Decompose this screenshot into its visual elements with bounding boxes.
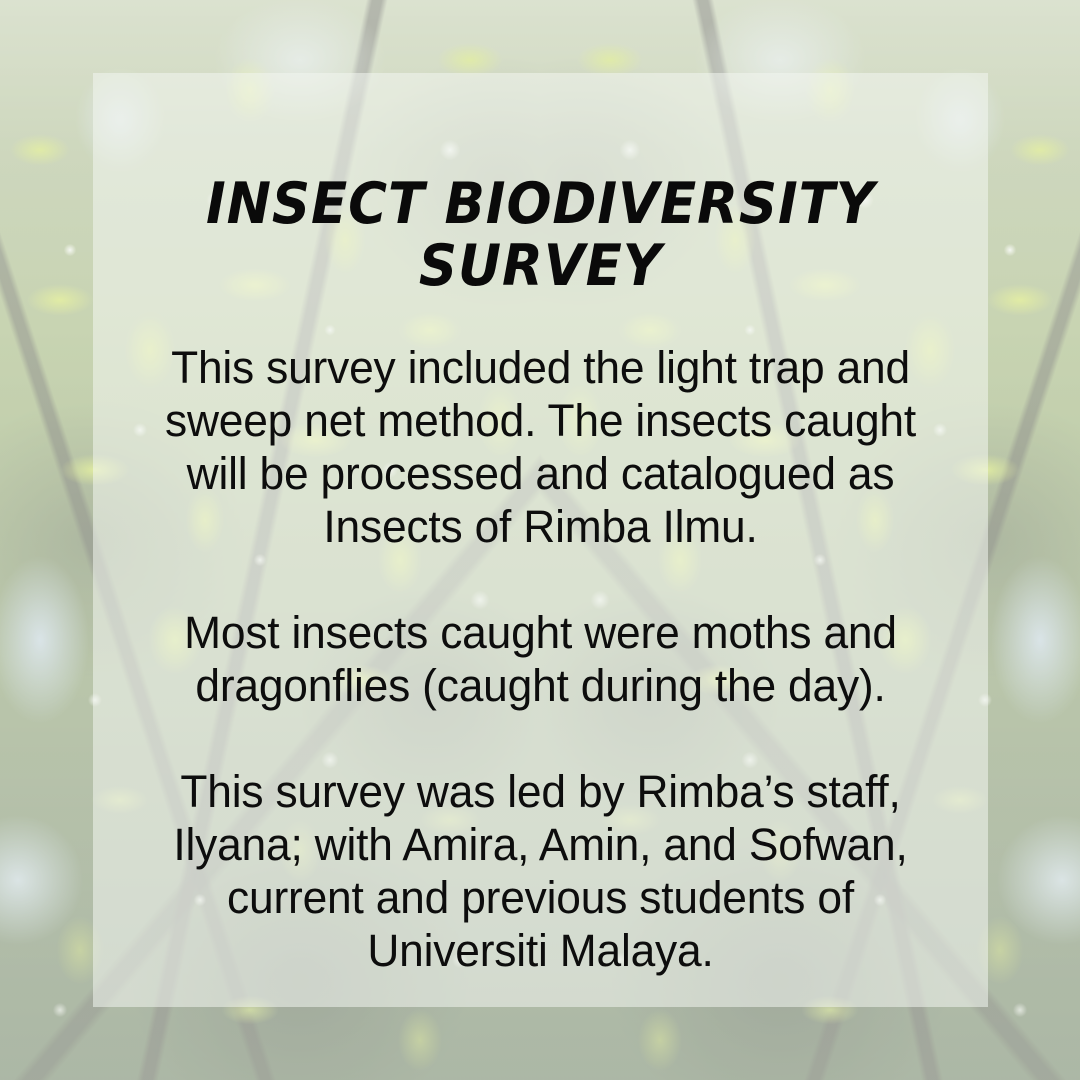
paragraph-methods: This survey included the light trap and … [100,341,982,553]
content-panel-inner: INSECT BIODIVERSITY SURVEY This survey i… [93,73,988,1007]
poster-canvas: INSECT BIODIVERSITY SURVEY This survey i… [0,0,1080,1080]
body-text-block: This survey included the light trap and … [100,341,982,977]
page-title: INSECT BIODIVERSITY SURVEY [124,173,956,297]
paragraph-team: This survey was led by Rimba’s staff, Il… [100,765,982,977]
translucent-content-panel: INSECT BIODIVERSITY SURVEY This survey i… [93,73,988,1007]
paragraph-findings: Most insects caught were moths and drago… [100,606,982,712]
